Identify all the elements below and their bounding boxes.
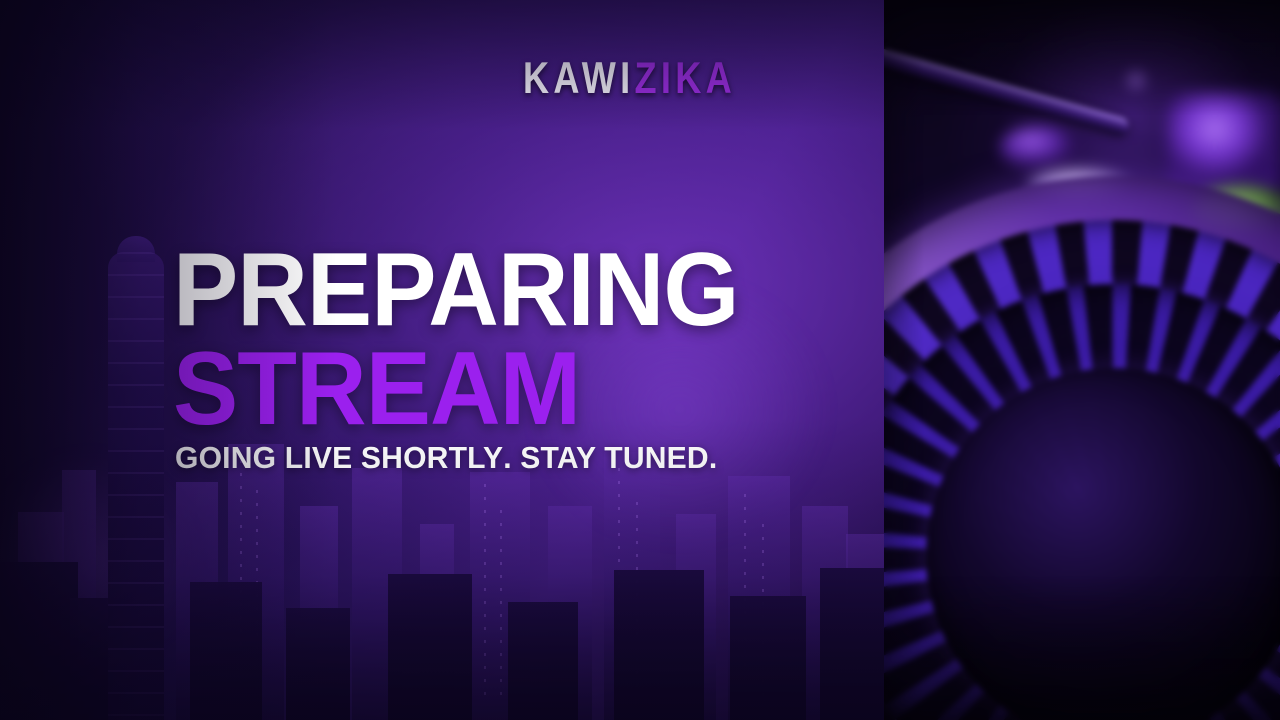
building	[228, 444, 284, 720]
city-skyline-background: KAWIZIKA PREPARING STREAM GOING LIVE SHO…	[0, 0, 884, 720]
tower-facade	[108, 252, 164, 720]
stream-overlay-screen: KAWIZIKA PREPARING STREAM GOING LIVE SHO…	[0, 0, 1280, 720]
building	[420, 524, 454, 720]
subheadline-seg-3: . STAY	[503, 440, 604, 475]
building	[676, 514, 716, 720]
building	[614, 570, 704, 720]
building	[176, 482, 218, 720]
headline-block: PREPARING STREAM	[173, 246, 775, 435]
window-lights	[240, 460, 242, 700]
building	[190, 582, 262, 720]
building	[820, 568, 884, 720]
window-lights	[762, 524, 764, 700]
building	[508, 602, 578, 720]
headline-line-1: PREPARING	[173, 246, 738, 335]
building	[62, 470, 96, 720]
building	[0, 562, 78, 720]
headline-line-2: STREAM	[173, 345, 738, 434]
building	[730, 596, 806, 720]
chip-stack-purple-left	[1000, 126, 1078, 170]
building	[548, 506, 592, 720]
subheadline: GOING LIVE SHORTLY. STAY TUNED.	[175, 441, 717, 475]
building	[388, 574, 472, 720]
landmark-tower	[108, 252, 164, 720]
building	[728, 476, 790, 720]
window-lights	[744, 494, 746, 700]
building	[802, 506, 848, 720]
building	[286, 608, 350, 720]
chip-glint	[1128, 72, 1144, 88]
building	[470, 472, 530, 720]
window-lights	[636, 502, 638, 700]
building	[846, 534, 884, 720]
subheadline-seg-1: GOING LIVE	[175, 440, 361, 475]
building	[300, 506, 338, 720]
subheadline-tuned: TUNED	[604, 440, 709, 475]
subheadline-shortly: SHORTLY	[361, 440, 503, 475]
subheadline-seg-5: .	[709, 440, 718, 475]
building	[18, 512, 64, 720]
window-lights	[484, 484, 486, 700]
brand-logo-light: KAWI	[523, 53, 635, 103]
brand-logo-accent: ZIKA	[635, 53, 736, 103]
window-lights	[500, 510, 502, 700]
roulette-wheel	[884, 176, 1280, 720]
building	[352, 468, 402, 720]
window-lights	[256, 490, 258, 700]
window-lights	[618, 468, 620, 700]
building	[604, 452, 660, 720]
building	[70, 598, 122, 720]
roulette-wheel-photo	[884, 0, 1280, 720]
brand-logo: KAWIZIKA	[523, 55, 736, 102]
